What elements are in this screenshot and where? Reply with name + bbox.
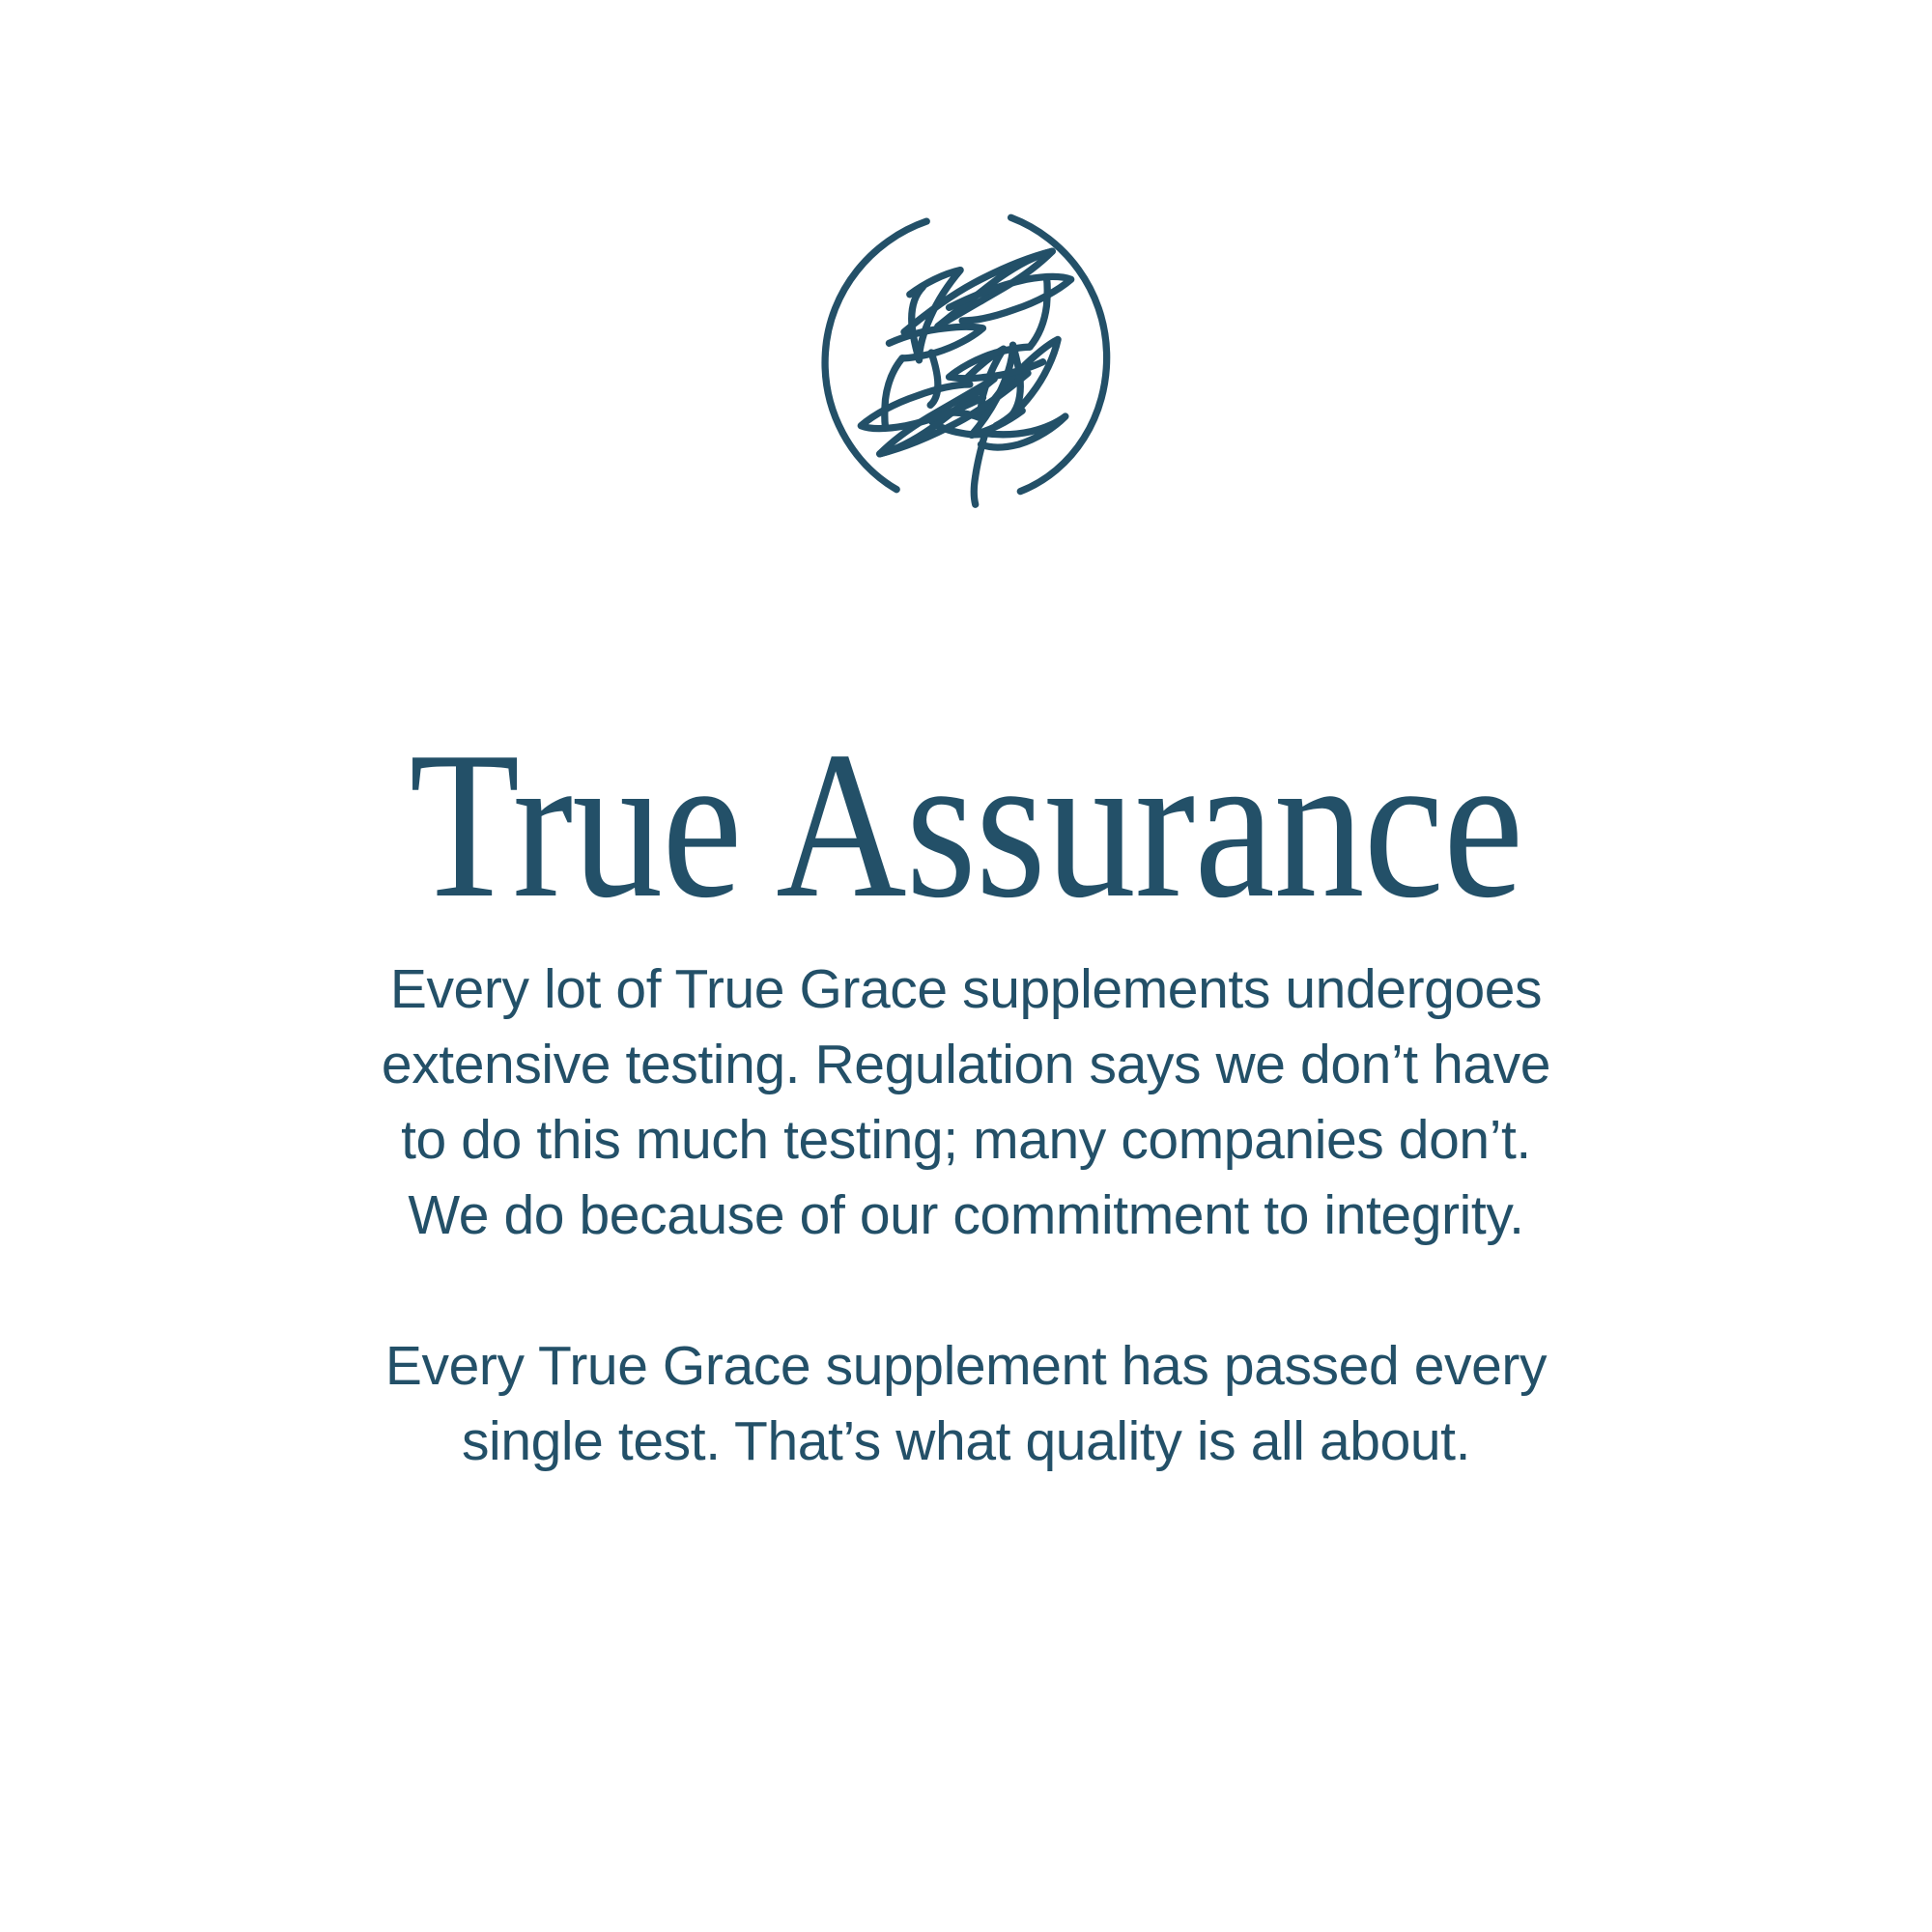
true-assurance-page: True Assurance Every lot of True Grace s… (0, 0, 1932, 1932)
body-line: extensive testing. Regulation says we do… (382, 1034, 1550, 1095)
body-line: Every True Grace supplement has passed e… (385, 1335, 1547, 1397)
body-line: to do this much testing; many companies … (401, 1109, 1531, 1171)
body-line: Every lot of True Grace supplements unde… (390, 958, 1542, 1020)
page-title: True Assurance (135, 721, 1797, 931)
paragraph-1: Every lot of True Grace supplements unde… (213, 952, 1719, 1253)
body-copy: Every lot of True Grace supplements unde… (213, 952, 1719, 1479)
logo-container (0, 193, 1932, 512)
body-line: single test. That’s what quality is all … (462, 1410, 1470, 1472)
paragraph-2: Every True Grace supplement has passed e… (213, 1328, 1719, 1479)
paragraph-spacer (213, 1253, 1719, 1328)
botanical-circle-logo-icon (807, 193, 1125, 512)
body-line: We do because of our commitment to integ… (408, 1184, 1523, 1246)
